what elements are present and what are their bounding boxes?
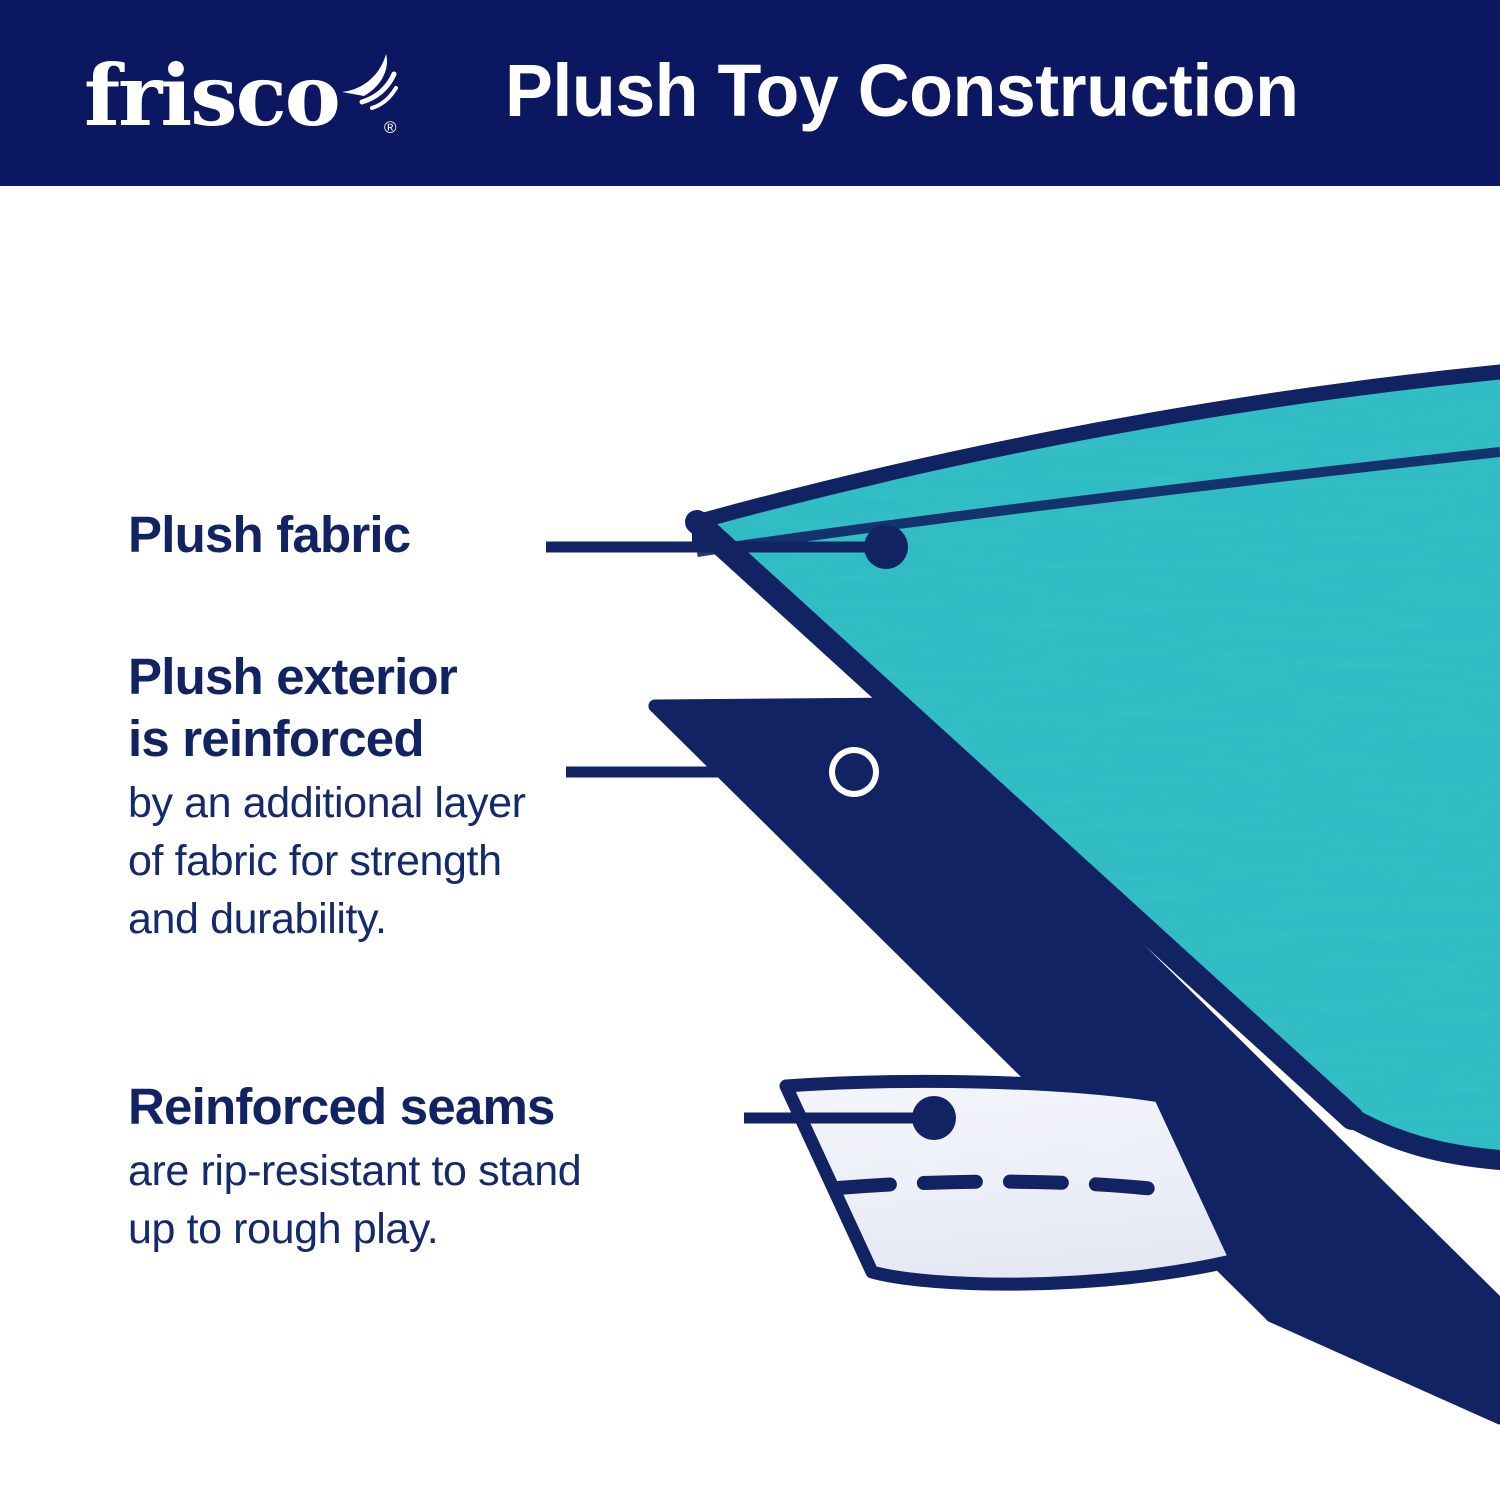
marker-dot-reinforced-seams (912, 1096, 956, 1140)
callout-body-plush-exterior: by an additional layer of fabric for str… (128, 770, 526, 948)
callout-heading-reinforced-seams: Reinforced seams (128, 1076, 581, 1138)
leader-reinforced-seams (744, 1096, 956, 1140)
infographic-page: frisco ® Plush Toy Construction (0, 0, 1500, 1500)
marker-dot-plush-exterior (835, 753, 873, 791)
seam-flap-layer (786, 1081, 1236, 1284)
plush-fabric-layer (697, 372, 1500, 1160)
frisco-logo: frisco ® (84, 42, 394, 146)
trademark-symbol: ® (384, 118, 397, 138)
marker-dot-plush-fabric (864, 525, 908, 569)
callout-reinforced-seams: Reinforced seams are rip-resistant to st… (128, 1076, 581, 1258)
callout-heading-plush-fabric: Plush fabric (128, 504, 410, 566)
callout-plush-exterior: Plush exterior is reinforced by an addit… (128, 646, 526, 948)
callout-leaders (546, 525, 956, 1140)
callout-body-reinforced-seams: are rip-resistant to stand up to rough p… (128, 1138, 581, 1258)
header-band: frisco ® Plush Toy Construction (0, 0, 1500, 186)
callout-plush-fabric: Plush fabric (128, 504, 410, 566)
logo-swoosh-icon (332, 50, 402, 110)
brand-name: frisco (84, 48, 339, 144)
page-title: Plush Toy Construction (505, 48, 1299, 133)
stitch-line (838, 1182, 1180, 1192)
leader-plush-fabric (546, 525, 908, 569)
callout-heading-plush-exterior: Plush exterior is reinforced (128, 646, 526, 770)
leader-plush-exterior (566, 747, 879, 797)
